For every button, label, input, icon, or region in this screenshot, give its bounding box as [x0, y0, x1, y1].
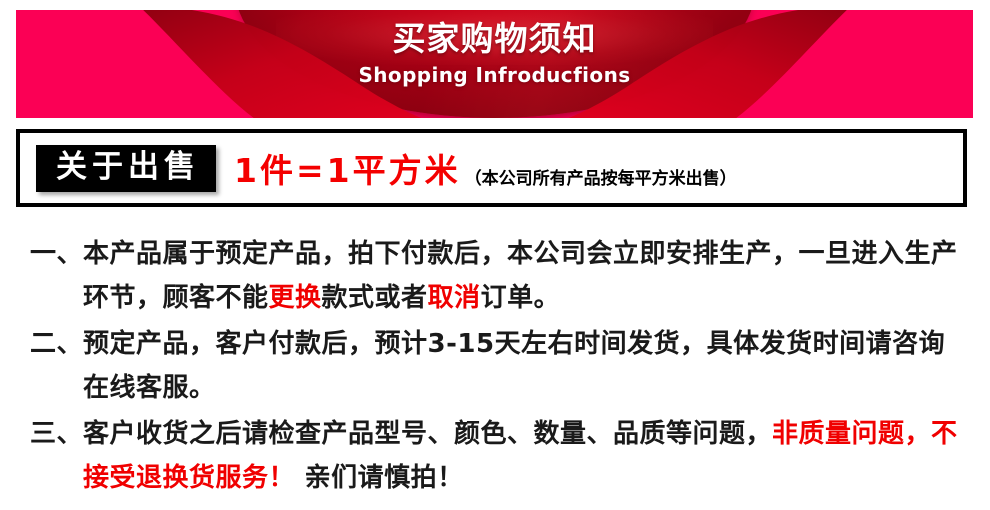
note-text-run: 订单。 — [481, 283, 561, 313]
note-text: 预定产品，客户付款后，预计3-15天左右时间发货，具体发货时间请咨询在线客服。 — [83, 322, 970, 410]
note-text: 本产品属于预定产品，拍下付款后，本公司会立即安排生产，一旦进入生产环节，顾客不能… — [83, 232, 970, 320]
note-item: 三、 客户收货之后请检查产品型号、颜色、数量、品质等问题，非质量问题，不接受退换… — [30, 412, 970, 500]
note-item: 一、 本产品属于预定产品，拍下付款后，本公司会立即安排生产，一旦进入生产环节，顾… — [30, 232, 970, 320]
headline-box: 关于出售 1件=1平方米 （本公司所有产品按每平方米出售） — [16, 129, 967, 207]
note-text-run: 取消 — [428, 283, 481, 313]
banner-ribbon-shape — [235, 10, 755, 118]
page-banner: 买家购物须知 Shopping Infroducfions — [16, 10, 973, 118]
shopping-notes-list: 一、 本产品属于预定产品，拍下付款后，本公司会立即安排生产，一旦进入生产环节，顾… — [30, 232, 970, 502]
headline-tag: 关于出售 — [36, 145, 216, 192]
note-marker: 三、 — [30, 412, 83, 456]
note-text-run: 客户收货之后请检查产品型号、颜色、数量、品质等问题， — [83, 419, 772, 449]
note-text-run: 亲们请慎拍！ — [295, 463, 464, 493]
headline-note: （本公司所有产品按每平方米出售） — [465, 164, 737, 203]
note-text: 客户收货之后请检查产品型号、颜色、数量、品质等问题，非质量问题，不接受退换货服务… — [83, 412, 970, 500]
note-text-run: 预定产品，客户付款后，预计3-15天左右时间发货，具体发货时间请咨询在线客服。 — [83, 329, 945, 403]
note-marker: 一、 — [30, 232, 83, 276]
note-text-run: 款式或者 — [322, 283, 428, 313]
note-item: 二、 预定产品，客户付款后，预计3-15天左右时间发货，具体发货时间请咨询在线客… — [30, 322, 970, 410]
note-marker: 二、 — [30, 322, 83, 366]
headline-emphasis: 1件=1平方米 — [234, 144, 461, 192]
note-text-run: 更换 — [269, 283, 322, 313]
